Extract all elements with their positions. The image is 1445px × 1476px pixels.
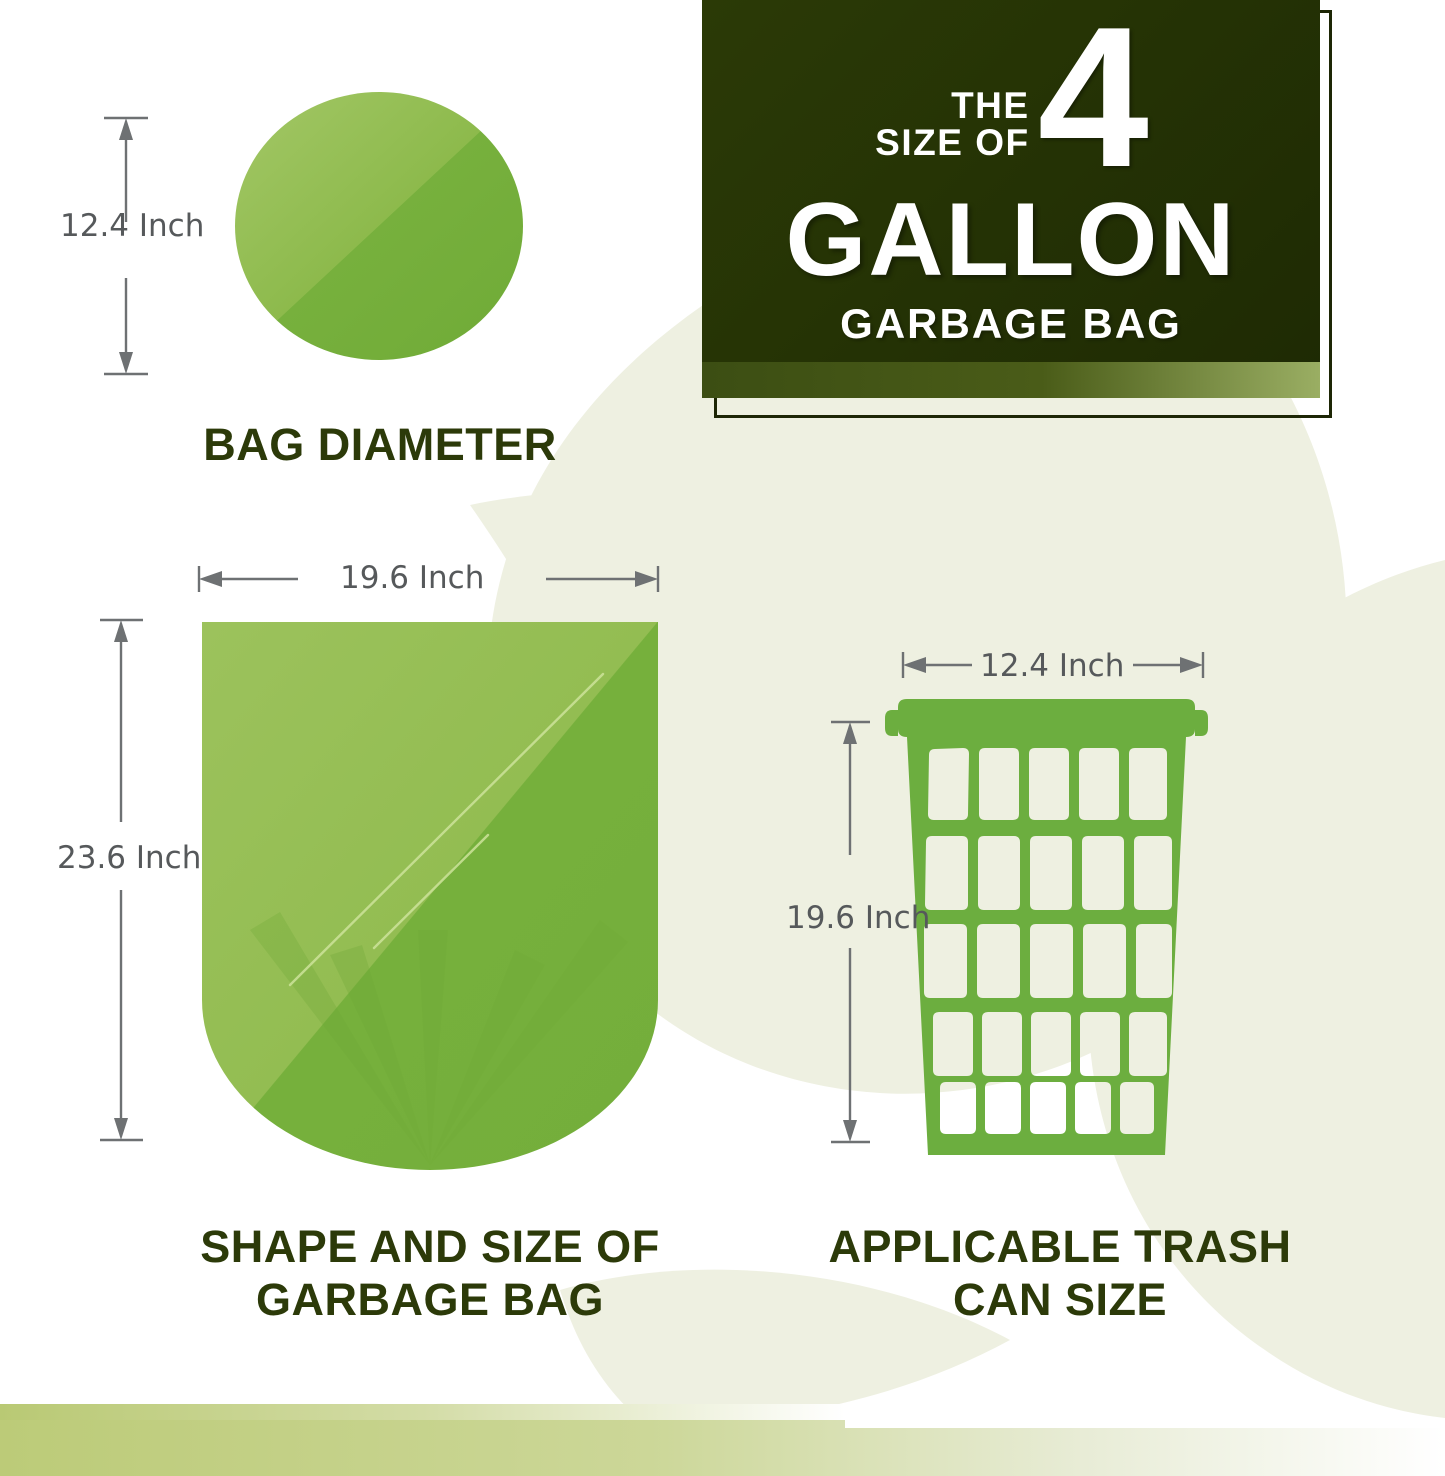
- bag-diameter-circle-group: [235, 92, 523, 360]
- infographic-canvas: 12.4 Inch 19.6 Inch 23.6 Inch 12.4 Inch …: [0, 0, 1445, 1476]
- banner-gallon-number: 4: [1038, 18, 1147, 178]
- caption-bag-shape-line2: GARBAGE BAG: [120, 1273, 740, 1326]
- banner-size-of: SIZE OF: [875, 124, 1029, 162]
- banner-panel: THE SIZE OF 4 GALLON GARBAGE BAG: [702, 0, 1320, 398]
- dimension-label-can-width: 12.4 Inch: [980, 648, 1124, 684]
- garbage-bag-shape-group: [202, 622, 658, 1170]
- banner-the: THE: [875, 87, 1029, 125]
- caption-bag-shape: SHAPE AND SIZE OF GARBAGE BAG: [120, 1220, 740, 1326]
- caption-trash-can-line2: CAN SIZE: [770, 1273, 1350, 1326]
- banner-top-row: THE SIZE OF 4: [702, 18, 1320, 178]
- banner-gallon-word: GALLON: [702, 188, 1320, 292]
- caption-bag-shape-line1: SHAPE AND SIZE OF: [120, 1220, 740, 1273]
- banner-content: THE SIZE OF 4 GALLON GARBAGE BAG: [702, 0, 1320, 362]
- dimension-label-bag-diameter: 12.4 Inch: [60, 208, 204, 244]
- banner-small-text: THE SIZE OF: [875, 87, 1029, 178]
- gallon-banner: THE SIZE OF 4 GALLON GARBAGE BAG: [702, 0, 1332, 418]
- banner-footer-bar: [702, 362, 1320, 398]
- caption-bag-diameter: BAG DIAMETER: [140, 418, 620, 471]
- caption-trash-can-line1: APPLICABLE TRASH: [770, 1220, 1350, 1273]
- caption-trash-can: APPLICABLE TRASH CAN SIZE: [770, 1220, 1350, 1326]
- dimension-label-bag-width: 19.6 Inch: [340, 560, 484, 596]
- dimension-label-can-height: 19.6 Inch: [786, 900, 930, 936]
- banner-subtitle: GARBAGE BAG: [702, 300, 1320, 348]
- bottom-decorative-strip: [0, 1404, 1445, 1476]
- dimension-label-bag-height: 23.6 Inch: [57, 840, 201, 876]
